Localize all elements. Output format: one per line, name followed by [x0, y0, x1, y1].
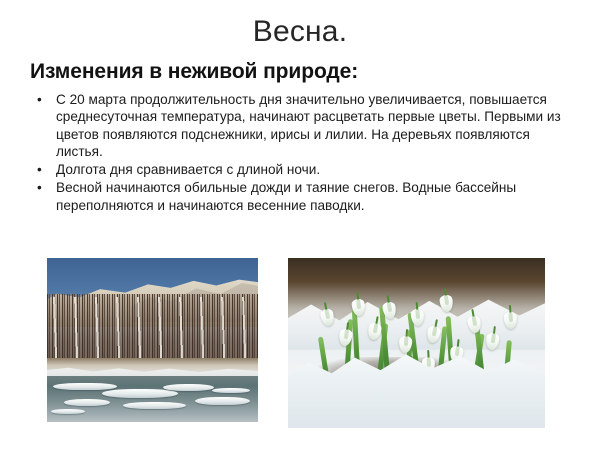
ice-floe: [195, 397, 250, 405]
ice-floe: [102, 389, 178, 398]
list-item-text: Долгота дня сравнивается с длиной ночи.: [56, 162, 320, 177]
slide-title: Весна.: [0, 14, 600, 50]
photo-spring-river-ice-drift: [47, 258, 258, 422]
ice-floe: [53, 383, 116, 390]
ice-floe: [51, 409, 85, 414]
list-item: • Долгота дня сравнивается с длиной ночи…: [30, 161, 578, 178]
bullet-marker-icon: •: [37, 91, 42, 108]
photo-snowdrops-in-snow: [288, 258, 545, 428]
bullet-list: • С 20 марта продолжительность дня значи…: [30, 91, 578, 215]
section-heading: Изменения в неживой природе:: [30, 59, 358, 85]
list-item-text: Весной начинаются обильные дожди и таяни…: [56, 180, 516, 212]
bullet-marker-icon: •: [37, 179, 42, 196]
bullet-marker-icon: •: [37, 161, 42, 178]
ice-floe: [212, 388, 250, 393]
list-item: • Весной начинаются обильные дожди и тая…: [30, 179, 578, 214]
slide-canvas: Весна. Изменения в неживой природе: • С …: [0, 0, 600, 450]
list-item: • С 20 марта продолжительность дня значи…: [30, 91, 578, 160]
list-item-text: С 20 марта продолжительность дня значите…: [56, 92, 561, 159]
ice-floe: [163, 384, 214, 391]
ice-floe: [64, 399, 110, 406]
